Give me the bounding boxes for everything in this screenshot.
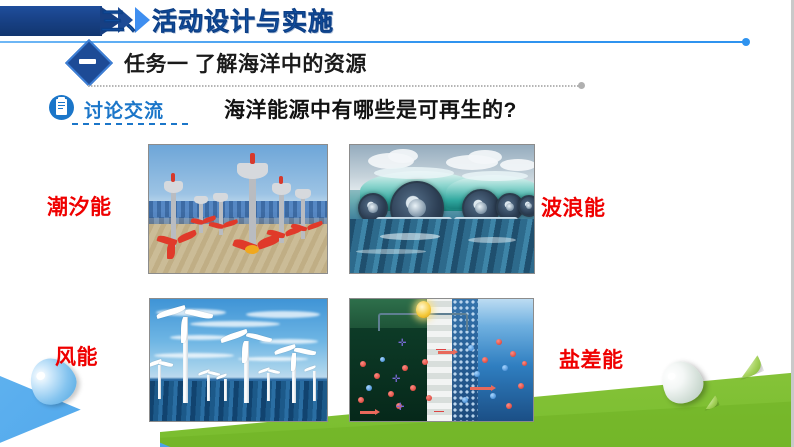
image-wind-energy (149, 298, 328, 422)
page-title: 三、活动设计与实施 (100, 2, 334, 38)
clipboard-icon (49, 95, 74, 120)
discussion-label: 讨论交流 (84, 96, 164, 123)
task-title: 任务一 了解海洋中的资源 (124, 48, 367, 78)
discussion-dashed-underline (72, 123, 192, 125)
image-tidal-energy (148, 144, 328, 274)
task-divider-dot (578, 82, 585, 89)
label-salinity-energy: 盐差能 (559, 344, 624, 374)
header-divider (0, 41, 745, 43)
label-wind-energy: 风能 (55, 341, 98, 371)
image-wave-energy (349, 144, 535, 274)
header-divider-dot (742, 38, 750, 46)
task-dotted-divider (88, 85, 580, 87)
label-tidal-energy: 潮汐能 (47, 191, 112, 221)
image-salinity-gradient-energy: ✛ ✛ ✛ — — (349, 298, 534, 422)
water-drop-icon (729, 345, 765, 381)
task-marker-glyph (79, 59, 96, 64)
banner-body (0, 6, 102, 36)
discussion-question: 海洋能源中有哪些是可再生的? (224, 94, 517, 124)
label-wave-energy: 波浪能 (541, 192, 606, 222)
slide-canvas: 三、活动设计与实施 任务一 了解海洋中的资源 讨论交流 海洋能源中有哪些是可再生… (0, 0, 794, 447)
